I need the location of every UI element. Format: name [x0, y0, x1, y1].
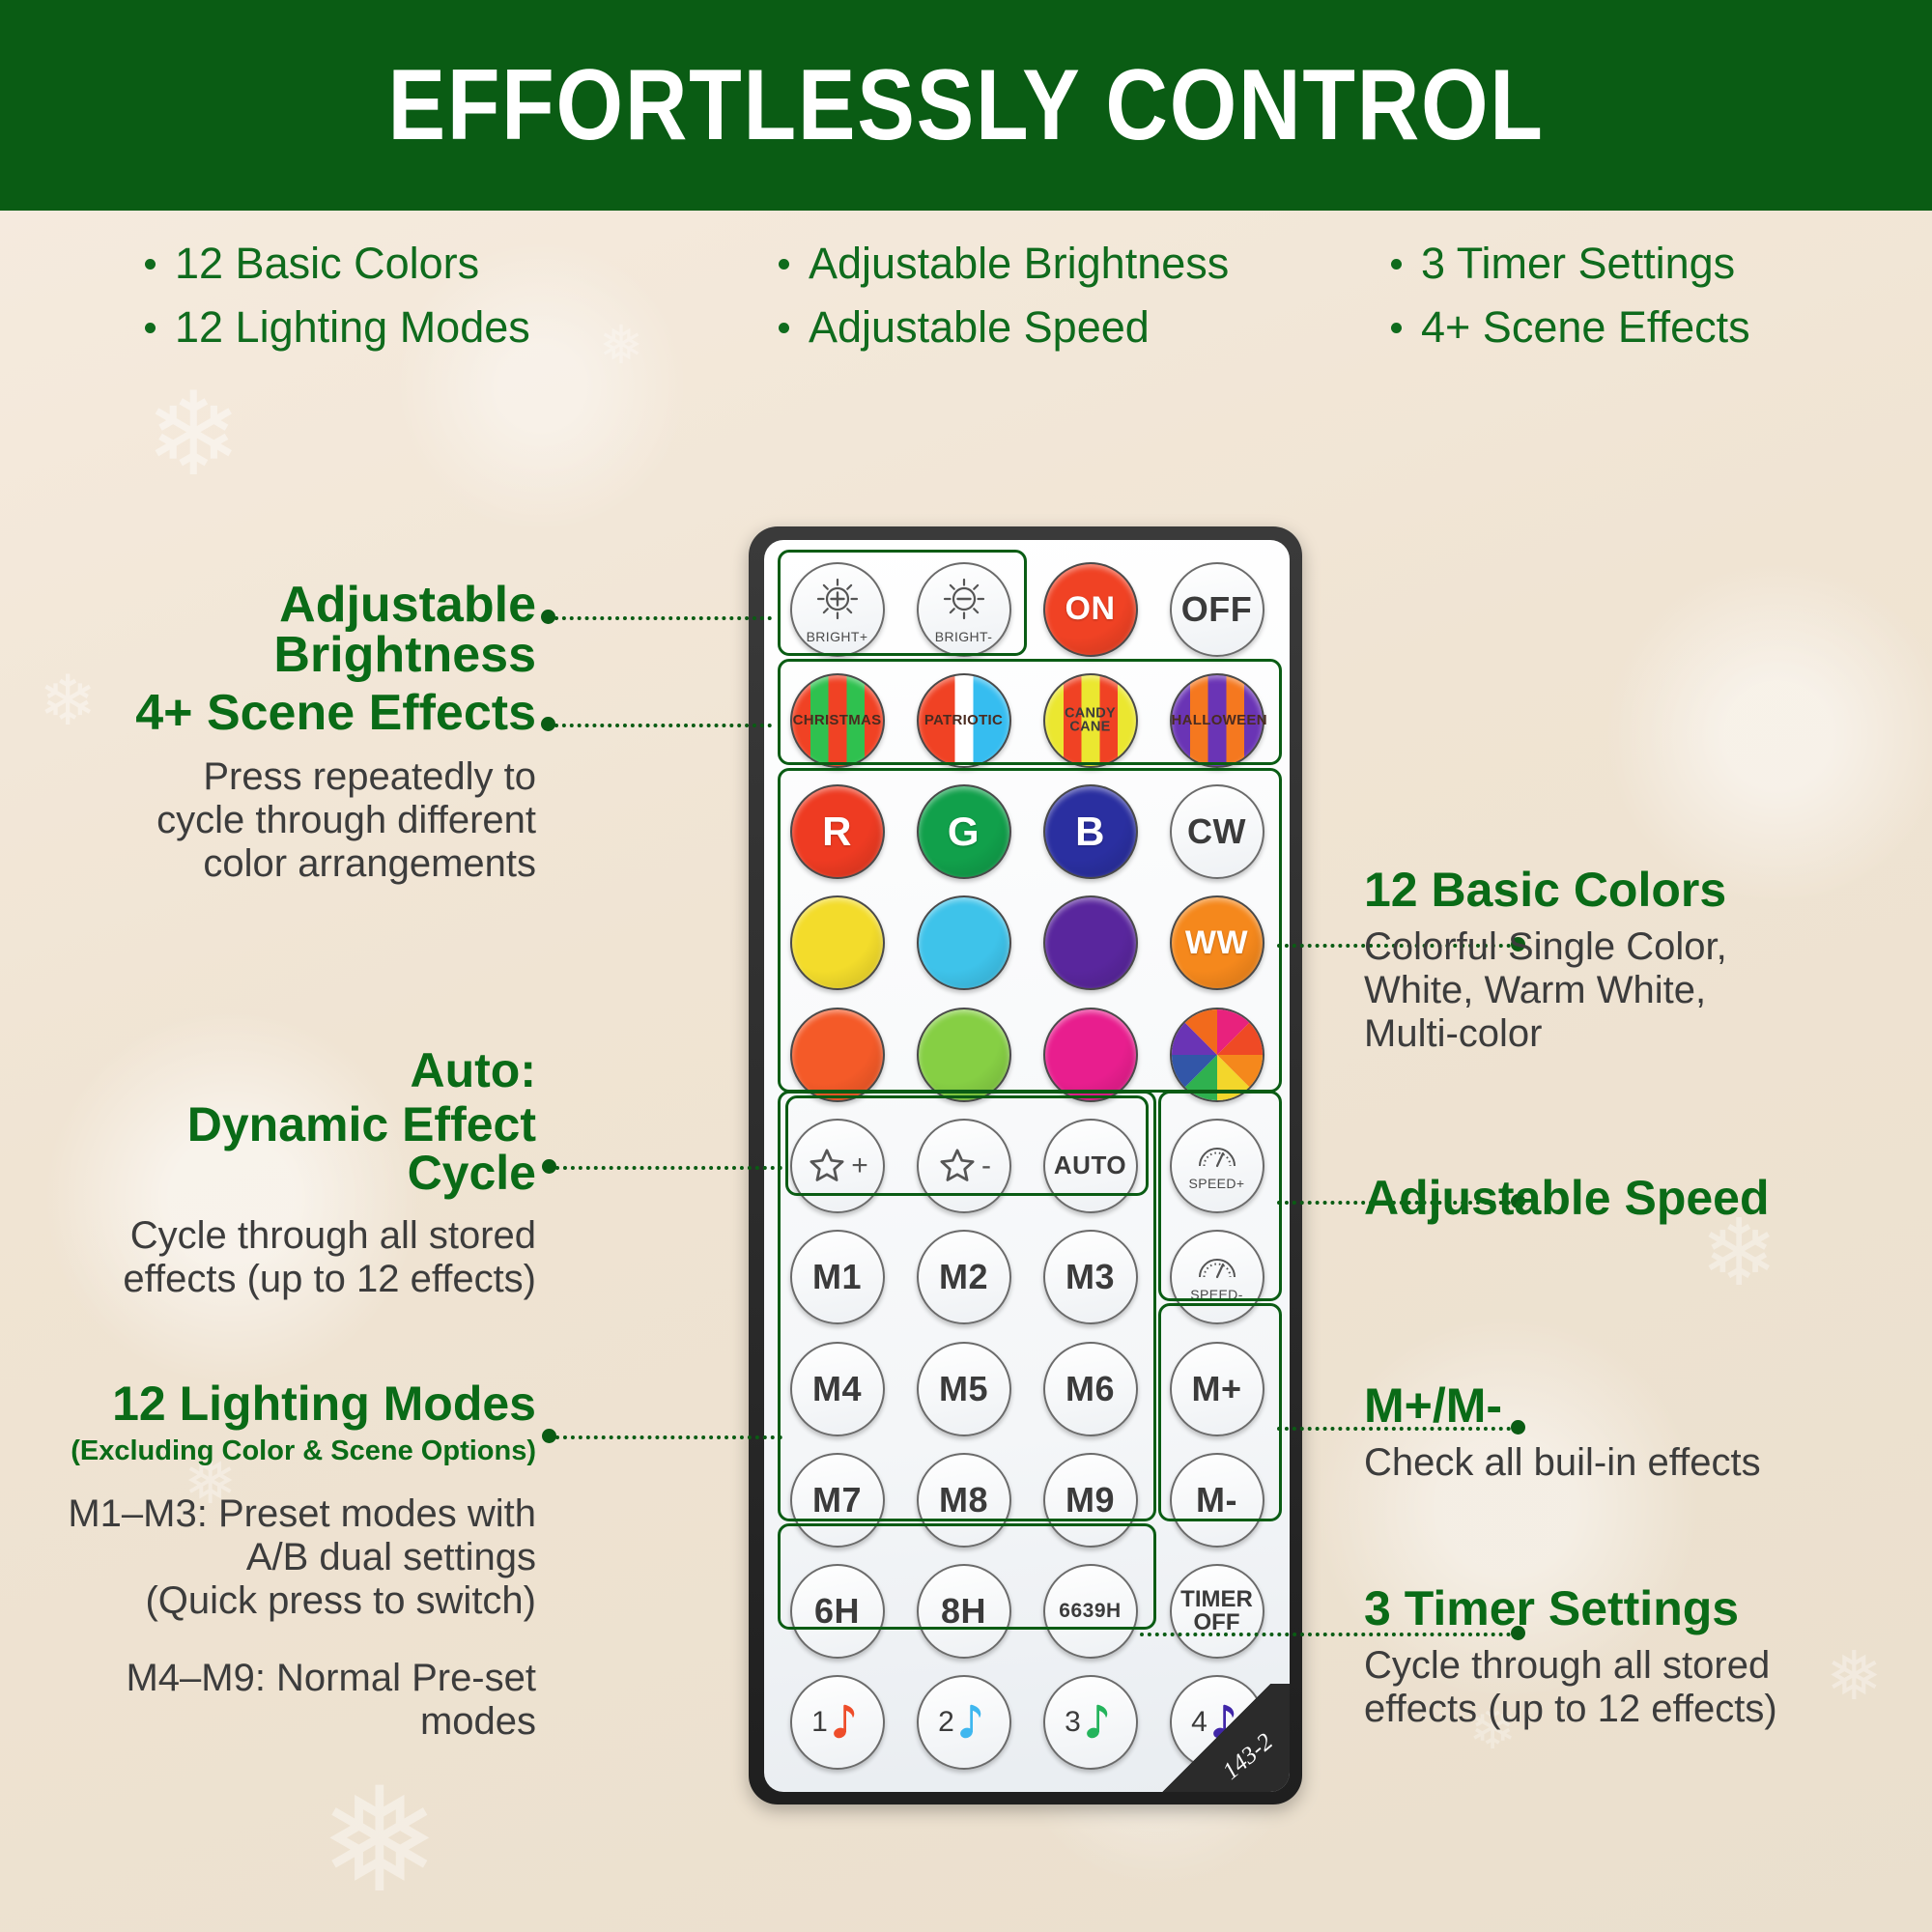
- remote-button-timer-8h[interactable]: 8H: [917, 1564, 1011, 1659]
- button-cell: M7: [774, 1444, 900, 1555]
- bullet-dot-icon: [145, 259, 156, 270]
- button-cell: CANDYCANE: [1027, 665, 1153, 776]
- remote-button-bright-down[interactable]: BRIGHT-: [917, 562, 1011, 657]
- remote-button-color-multicolor[interactable]: [1170, 1008, 1264, 1102]
- button-cell: CHRISTMAS: [774, 665, 900, 776]
- remote-button-bright-up[interactable]: BRIGHT+: [790, 562, 885, 657]
- music-number-label: 1: [811, 1706, 828, 1739]
- button-cell: M5: [900, 1333, 1027, 1444]
- feature-column-2: Adjustable Brightness Adjustable Speed: [686, 228, 1320, 363]
- annotation-heading: Adjustable Brightness: [58, 580, 536, 680]
- music-note-icon: [830, 1699, 863, 1747]
- button-label: 8H: [941, 1593, 986, 1630]
- button-label: R: [822, 810, 852, 853]
- button-cell: OFF: [1153, 554, 1280, 665]
- annotation-heading: M+/M-: [1364, 1381, 1905, 1430]
- button-label: ON: [1065, 592, 1116, 627]
- button-cell: 3: [1027, 1667, 1153, 1778]
- sun-plus-icon: [813, 575, 862, 628]
- button-label: 6H: [814, 1593, 860, 1630]
- remote-button-color-magenta[interactable]: [1043, 1008, 1138, 1102]
- bullet-dot-icon: [1391, 323, 1402, 333]
- scene-button-label: HALLOWEEN: [1172, 713, 1263, 728]
- annotation-heading: 4+ Scene Effects: [58, 688, 536, 738]
- remote-button-mode-m8[interactable]: M8: [917, 1453, 1011, 1548]
- button-sublabel: SPEED-: [1190, 1287, 1243, 1302]
- button-cell: M6: [1027, 1333, 1153, 1444]
- button-cell: M+: [1153, 1333, 1280, 1444]
- annotation-body-1: M1–M3: Preset modes with A/B dual settin…: [58, 1492, 536, 1622]
- remote-button-mode-m1[interactable]: M1: [790, 1230, 885, 1324]
- button-cell: [774, 888, 900, 999]
- annotation-auto: Auto: Dynamic Effect Cycle Cycle through…: [58, 1046, 536, 1301]
- button-label: G: [948, 810, 980, 853]
- scene-button-label: CHRISTMAS: [792, 713, 883, 728]
- remote-button-on[interactable]: ON: [1043, 562, 1138, 657]
- annotation-brightness: Adjustable Brightness: [58, 580, 536, 680]
- button-sublabel: BRIGHT-: [935, 629, 993, 644]
- star-minus-icon: -: [936, 1145, 991, 1187]
- button-cell: M9: [1027, 1444, 1153, 1555]
- button-cell: 1: [774, 1667, 900, 1778]
- button-cell: CW: [1153, 777, 1280, 888]
- connector-dot: [542, 1159, 556, 1174]
- remote-button-music-1[interactable]: 1: [790, 1675, 885, 1770]
- remote-button-color-orange[interactable]: [790, 1008, 885, 1102]
- button-cell: 6H: [774, 1555, 900, 1666]
- remote-button-mode-m5[interactable]: M5: [917, 1342, 1011, 1436]
- feature-column-1: 12 Basic Colors 12 Lighting Modes: [0, 228, 686, 363]
- button-cell: HALLOWEEN: [1153, 665, 1280, 776]
- bullet-dot-icon: [1391, 259, 1402, 270]
- button-cell: R: [774, 777, 900, 888]
- annotation-heading: Adjustable Speed: [1364, 1174, 1905, 1222]
- feature-column-3: 3 Timer Settings 4+ Scene Effects: [1320, 228, 1932, 363]
- annotation-body: Cycle through all stored effects (up to …: [58, 1214, 536, 1301]
- scene-button-label: PATRIOTIC: [919, 713, 1009, 728]
- button-cell: M8: [900, 1444, 1027, 1555]
- remote-button-color-green[interactable]: G: [917, 784, 1011, 879]
- button-label: M8: [939, 1482, 988, 1519]
- button-label: 6639H: [1059, 1601, 1121, 1622]
- button-cell: [900, 999, 1027, 1110]
- remote-button-scene-candy-cane[interactable]: CANDYCANE: [1043, 673, 1138, 768]
- button-cell: M-: [1153, 1444, 1280, 1555]
- remote-button-timer-6h[interactable]: 6H: [790, 1564, 885, 1659]
- annotation-speed: Adjustable Speed: [1364, 1174, 1905, 1222]
- feature-bullet: 12 Basic Colors: [145, 239, 686, 289]
- button-sublabel: BRIGHT+: [807, 629, 868, 644]
- remote-button-music-2[interactable]: 2: [917, 1675, 1011, 1770]
- connector-dot: [541, 717, 555, 731]
- feature-bullet: 4+ Scene Effects: [1391, 302, 1932, 353]
- button-label: M+: [1191, 1371, 1241, 1407]
- annotation-heading-line2: Dynamic Effect Cycle: [58, 1100, 536, 1197]
- remote-button-timer-6639h[interactable]: 6639H: [1043, 1564, 1138, 1659]
- remote-button-color-cyan[interactable]: [917, 895, 1011, 990]
- remote-button-off[interactable]: OFF: [1170, 562, 1264, 657]
- gauge-icon: [1196, 1141, 1238, 1175]
- button-cell: [774, 999, 900, 1110]
- remote-control: BRIGHT+ BRIGHT-ONOFFCHRISTMASPATRIOTICCA…: [749, 526, 1302, 1804]
- button-label: B: [1075, 810, 1105, 853]
- button-cell: WW: [1153, 888, 1280, 999]
- button-cell: ON: [1027, 554, 1153, 665]
- bullet-dot-icon: [145, 323, 156, 333]
- snowflake-icon: ❅: [319, 1768, 440, 1913]
- button-cell: [900, 888, 1027, 999]
- remote-button-color-blue[interactable]: B: [1043, 784, 1138, 879]
- page-header: EFFORTLESSLY CONTROL: [0, 0, 1932, 211]
- star-plus-icon: +: [806, 1145, 868, 1187]
- annotation-heading: 3 Timer Settings: [1364, 1584, 1924, 1633]
- connector-line-scene: [554, 724, 772, 727]
- button-label: M3: [1065, 1259, 1115, 1295]
- remote-button-mode-m9[interactable]: M9: [1043, 1453, 1138, 1548]
- remote-button-color-yellow[interactable]: [790, 895, 885, 990]
- button-cell: TIMEROFF: [1153, 1555, 1280, 1666]
- annotation-modes: 12 Lighting Modes (Excluding Color & Sce…: [58, 1379, 536, 1744]
- music-note-icon: [1083, 1699, 1116, 1747]
- remote-button-scene-halloween[interactable]: HALLOWEEN: [1170, 673, 1264, 768]
- button-cell: 2: [900, 1667, 1027, 1778]
- button-label: M2: [939, 1259, 988, 1295]
- button-label: M9: [1065, 1482, 1115, 1519]
- button-label: M4: [812, 1371, 862, 1407]
- annotation-memory: M+/M- Check all buil-in effects: [1364, 1381, 1905, 1485]
- button-cell: BRIGHT-: [900, 554, 1027, 665]
- annotation-heading-line1: Auto:: [58, 1046, 536, 1094]
- annotation-scene: 4+ Scene Effects Press repeatedly to cyc…: [58, 688, 536, 885]
- remote-button-memory-down[interactable]: M-: [1170, 1453, 1264, 1548]
- button-cell: M1: [774, 1222, 900, 1333]
- bullet-dot-icon: [779, 259, 789, 270]
- button-cell: M3: [1027, 1222, 1153, 1333]
- annotation-timer: 3 Timer Settings Cycle through all store…: [1364, 1584, 1924, 1731]
- remote-button-color-red[interactable]: R: [790, 784, 885, 879]
- snowflake-icon: ❄: [145, 377, 242, 493]
- annotation-body-2: M4–M9: Normal Pre-set modes: [58, 1657, 536, 1744]
- annotation-heading: 12 Basic Colors: [1364, 866, 1905, 914]
- scene-button-label: CANDYCANE: [1045, 706, 1136, 734]
- remote-button-effect-remove[interactable]: -: [917, 1119, 1011, 1213]
- remote-button-color-purple[interactable]: [1043, 895, 1138, 990]
- remote-button-mode-m7[interactable]: M7: [790, 1453, 885, 1548]
- music-number-label: 3: [1065, 1706, 1081, 1739]
- annotation-body: Press repeatedly to cycle through differ…: [58, 755, 536, 885]
- connector-line-modes: [555, 1435, 782, 1439]
- button-cell: SPEED-: [1153, 1222, 1280, 1333]
- remote-button-color-warm-white[interactable]: WW: [1170, 895, 1264, 990]
- multicolor-pie-icon: [1171, 1009, 1264, 1101]
- feature-bullet: 3 Timer Settings: [1391, 239, 1932, 289]
- button-cell: PATRIOTIC: [900, 665, 1027, 776]
- button-label: CW: [1187, 813, 1246, 850]
- button-cell: BRIGHT+: [774, 554, 900, 665]
- remote-button-speed-up[interactable]: SPEED+: [1170, 1119, 1264, 1213]
- connector-line-brightness: [554, 616, 772, 620]
- remote-button-mode-m4[interactable]: M4: [790, 1342, 885, 1436]
- button-label: AUTO: [1054, 1152, 1126, 1179]
- sun-minus-icon: [940, 575, 988, 628]
- button-label: M1: [812, 1259, 862, 1295]
- button-cell: AUTO: [1027, 1110, 1153, 1221]
- button-cell: 8H: [900, 1555, 1027, 1666]
- remote-button-mode-m3[interactable]: M3: [1043, 1230, 1138, 1324]
- button-cell: M4: [774, 1333, 900, 1444]
- remote-button-color-lime[interactable]: [917, 1008, 1011, 1102]
- feature-bullet: Adjustable Speed: [779, 302, 1320, 353]
- feature-bullet-strip: 12 Basic Colors 12 Lighting Modes Adjust…: [0, 228, 1932, 363]
- remote-button-scene-christmas[interactable]: CHRISTMAS: [790, 673, 885, 768]
- button-label: M5: [939, 1371, 988, 1407]
- annotation-body: Colorful Single Color, White, Warm White…: [1364, 925, 1905, 1055]
- connector-line-auto: [555, 1166, 782, 1170]
- remote-button-scene-patriotic[interactable]: PATRIOTIC: [917, 673, 1011, 768]
- button-cell: G: [900, 777, 1027, 888]
- button-cell: [1153, 999, 1280, 1110]
- remote-button-color-cool-white[interactable]: CW: [1170, 784, 1264, 879]
- connector-dot: [541, 610, 555, 624]
- remote-button-music-3[interactable]: 3: [1043, 1675, 1138, 1770]
- button-grid: BRIGHT+ BRIGHT-ONOFFCHRISTMASPATRIOTICCA…: [764, 540, 1290, 1792]
- remote-button-mode-m6[interactable]: M6: [1043, 1342, 1138, 1436]
- annotation-body: Cycle through all stored effects (up to …: [1364, 1644, 1924, 1731]
- feature-bullet: Adjustable Brightness: [779, 239, 1320, 289]
- button-cell: [1027, 888, 1153, 999]
- annotation-subheading: (Excluding Color & Scene Options): [58, 1437, 536, 1465]
- button-label: M6: [1065, 1371, 1115, 1407]
- music-note-icon: [956, 1699, 989, 1747]
- button-sublabel: SPEED+: [1188, 1176, 1244, 1191]
- remote-button-speed-down[interactable]: SPEED-: [1170, 1230, 1264, 1324]
- remote-button-auto[interactable]: AUTO: [1043, 1119, 1138, 1213]
- button-cell: SPEED+: [1153, 1110, 1280, 1221]
- button-label: TIMEROFF: [1180, 1588, 1253, 1634]
- button-cell: +: [774, 1110, 900, 1221]
- remote-button-effect-add[interactable]: +: [790, 1119, 885, 1213]
- remote-button-mode-m2[interactable]: M2: [917, 1230, 1011, 1324]
- remote-faceplate: BRIGHT+ BRIGHT-ONOFFCHRISTMASPATRIOTICCA…: [764, 540, 1290, 1792]
- remote-button-timer-off[interactable]: TIMEROFF: [1170, 1564, 1264, 1659]
- button-label: M7: [812, 1482, 862, 1519]
- button-cell: B: [1027, 777, 1153, 888]
- annotation-body: Check all buil-in effects: [1364, 1441, 1905, 1485]
- page-title: EFFORTLESSLY CONTROL: [387, 48, 1544, 163]
- button-cell: -: [900, 1110, 1027, 1221]
- model-tag: 143-2: [1162, 1684, 1290, 1792]
- remote-button-memory-up[interactable]: M+: [1170, 1342, 1264, 1436]
- annotation-colors: 12 Basic Colors Colorful Single Color, W…: [1364, 866, 1905, 1055]
- button-label: M-: [1196, 1482, 1237, 1519]
- button-cell: 6639H: [1027, 1555, 1153, 1666]
- annotation-heading: 12 Lighting Modes: [58, 1379, 536, 1428]
- feature-bullet: 12 Lighting Modes: [145, 302, 686, 353]
- model-tag-label: 143-2: [1217, 1729, 1278, 1786]
- button-label: WW: [1185, 926, 1248, 961]
- button-cell: [1027, 999, 1153, 1110]
- button-cell: M2: [900, 1222, 1027, 1333]
- gauge-icon: [1196, 1252, 1238, 1286]
- connector-dot: [542, 1429, 556, 1443]
- bullet-dot-icon: [779, 323, 789, 333]
- button-label: OFF: [1181, 591, 1252, 628]
- music-number-label: 2: [938, 1706, 954, 1739]
